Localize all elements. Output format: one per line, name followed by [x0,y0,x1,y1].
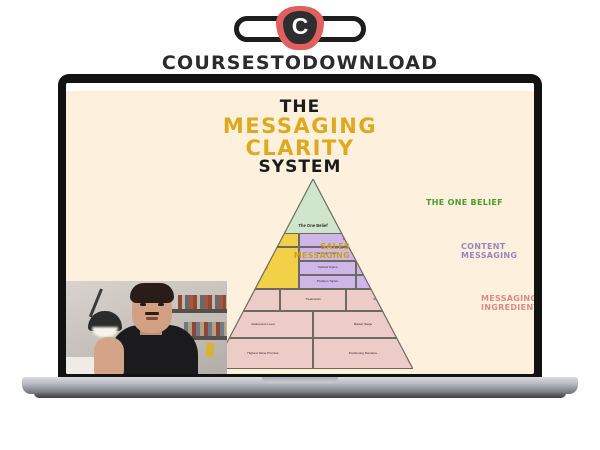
cell-positioning-narrative: Positioning Narrative [313,338,413,369]
laptop-mockup: THE MESSAGING CLARITY SYSTEM The One Bel… [0,74,600,424]
label-content-messaging: CONTENT MESSAGING [461,243,534,261]
cell-ingredient-solutions: Solutions [346,289,413,311]
cell-ingredient-treatments: Treatments [280,289,347,311]
label-messaging-ingredients: MESSAGING INGREDIENTS [481,295,534,313]
slide-title: THE MESSAGING CLARITY SYSTEM [66,99,534,176]
presenter-eye-right [158,303,164,306]
cell-sub-5: Expertise Stories [356,275,413,289]
laptop-base-notch [262,377,338,383]
label-one-belief: THE ONE BELIEF [426,199,503,208]
pyramid-band-7: Awareness Level Market Stage [213,311,413,338]
logo-letter: C [283,10,317,43]
presenter-hair [130,283,174,303]
title-line-clarity: CLARITY [66,138,534,159]
presenter-moustache [145,312,159,315]
pyramid-band-8: Highest Value Promise Positioning Narrat… [213,338,413,369]
presenter-mouth [146,317,158,320]
pyramid-band-5: Problem Topics Expertise Stories [213,275,413,289]
cell-one-belief: The One Belief [213,179,413,233]
screen-top-strip [66,83,534,91]
brand-wordmark: COURSESTODOWNLOAD [0,52,600,74]
laptop-screen: THE MESSAGING CLARITY SYSTEM The One Bel… [66,83,534,374]
title-line-system: SYSTEM [66,159,534,176]
cell-awareness-level: Awareness Level [213,311,313,338]
title-line-messaging: MESSAGING [66,116,534,137]
presenter-eye-left [140,303,146,306]
brand-header: C COURSESTODOWNLOAD [0,4,600,70]
bottle-object [206,343,214,357]
webcam-overlay [66,281,227,374]
messaging-pyramid: The One Belief One Liner Umbrella Opinio… [213,179,413,369]
pyramid-band-4: Tactical Topics Tactical Change [213,261,413,275]
label-sales-messaging: SALES MESSAGING [280,243,350,261]
books-upper [178,295,226,309]
pyramid-band-6: Cases Treatments Solutions [213,289,413,311]
books-lower [184,322,226,336]
cell-sub-2: Tactical Topics [299,261,356,275]
pyramid-band-apex: The One Belief [213,179,413,233]
coursestodownload-logo: C [258,6,342,50]
cell-sub-3: Tactical Change [356,261,413,275]
presenter-hand [94,337,124,374]
cell-sub-4: Problem Topics [299,275,356,289]
pyramid-clip: The One Belief One Liner Umbrella Opinio… [213,179,413,369]
cell-sub-1: Strategic Change [356,247,413,261]
laptop-lid: THE MESSAGING CLARITY SYSTEM The One Bel… [58,74,542,379]
cell-highest-value-promise: Highest Value Promise [213,338,313,369]
cell-market-stage: Market Stage [313,311,413,338]
laptop-base-foot [34,393,566,398]
